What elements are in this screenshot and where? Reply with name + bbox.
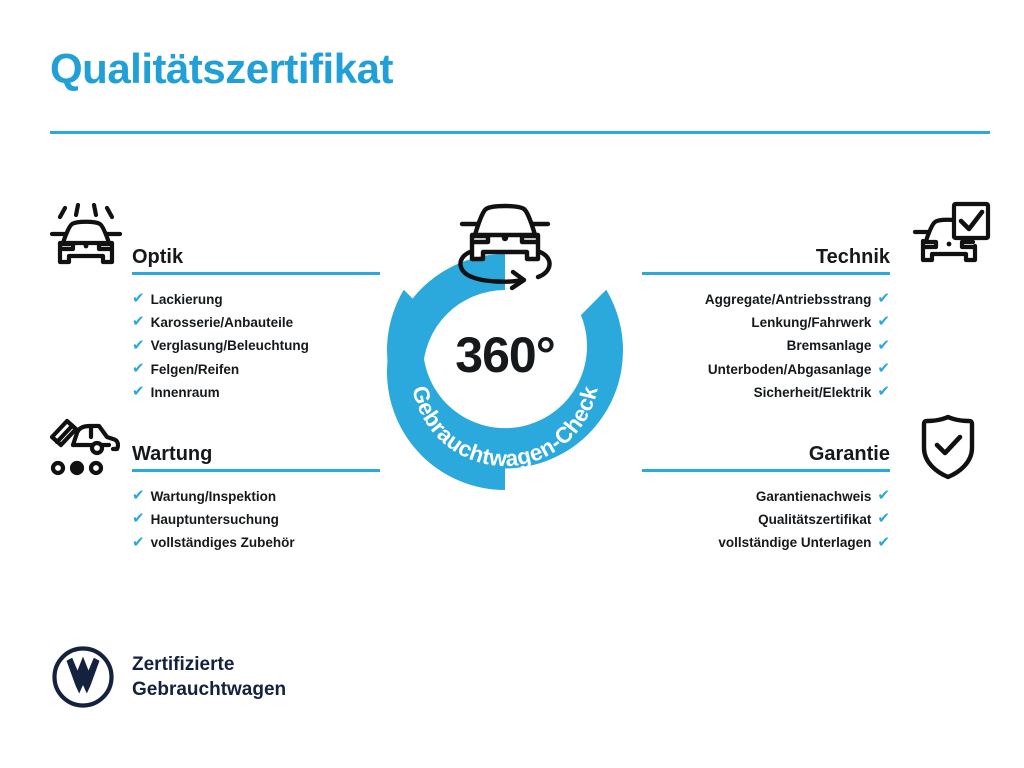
check-icon: ✔ [877, 384, 890, 399]
check-icon: ✔ [132, 314, 145, 329]
check-icon: ✔ [132, 384, 145, 399]
list-item-label: vollständige Unterlagen [718, 531, 871, 554]
checklist-optik: ✔ Lackierung ✔ Karosserie/Anbauteile ✔ V… [132, 288, 380, 404]
list-item: ✔ Karosserie/Anbauteile [132, 311, 380, 334]
list-item-label: Unterboden/Abgasanlage [708, 358, 872, 381]
page-title: Qualitätszertifikat [50, 48, 393, 90]
badge-360-gebrauchtwagen-check: Gebrauchtwagen-Check 360° [372, 190, 638, 490]
list-item-label: Wartung/Inspektion [151, 485, 277, 508]
section-divider-optik [132, 272, 380, 275]
list-item: ✔ Lackierung [132, 288, 380, 311]
list-item: Sicherheit/Elektrik ✔ [642, 381, 890, 404]
section-divider-technik [642, 272, 890, 275]
list-item: Lenkung/Fahrwerk ✔ [642, 311, 890, 334]
vw-logo [52, 646, 114, 708]
list-item-label: Innenraum [151, 381, 220, 404]
check-icon: ✔ [132, 291, 145, 306]
list-item-label: Verglasung/Beleuchtung [151, 334, 309, 357]
list-item-label: Lackierung [151, 288, 223, 311]
section-header-technik: Technik [642, 233, 890, 275]
list-item-label: Bremsanlage [787, 334, 872, 357]
section-wartung: Wartung ✔ Wartung/Inspektion ✔ Hauptunte… [132, 430, 380, 555]
car-front-shine-icon [47, 203, 125, 279]
section-header-optik: Optik [132, 233, 380, 275]
checklist-garantie: Garantienachweis ✔ Qualitätszertifikat ✔… [642, 485, 890, 555]
vw-label-line2: Gebrauchtwagen [132, 677, 286, 702]
section-divider-wartung [132, 469, 380, 472]
check-icon: ✔ [877, 488, 890, 503]
list-item: Bremsanlage ✔ [642, 334, 890, 357]
car-front-rotate-icon [450, 190, 560, 295]
list-item-label: Qualitätszertifikat [758, 508, 871, 531]
list-item: Garantienachweis ✔ [642, 485, 890, 508]
list-item: ✔ Hauptuntersuchung [132, 508, 380, 531]
check-icon: ✔ [877, 291, 890, 306]
vw-certified-logo-block: Zertifizierte Gebrauchtwagen [52, 646, 286, 708]
list-item: ✔ Felgen/Reifen [132, 358, 380, 381]
vw-label-line1: Zertifizierte [132, 652, 286, 677]
check-icon: ✔ [877, 511, 890, 526]
section-garantie: Garantie Garantienachweis ✔ Qualitätszer… [642, 430, 890, 555]
checklist-wartung: ✔ Wartung/Inspektion ✔ Hauptuntersuchung… [132, 485, 380, 555]
list-item-label: Hauptuntersuchung [151, 508, 279, 531]
section-title-optik: Optik [132, 246, 183, 269]
list-item-label: vollständiges Zubehör [151, 531, 295, 554]
check-icon: ✔ [877, 314, 890, 329]
check-icon: ✔ [877, 361, 890, 376]
list-item: ✔ Innenraum [132, 381, 380, 404]
section-header-wartung: Wartung [132, 430, 380, 472]
list-item-label: Felgen/Reifen [151, 358, 240, 381]
section-optik: Optik ✔ Lackierung ✔ Karosserie/Anbautei… [132, 233, 380, 404]
section-title-technik: Technik [816, 246, 890, 269]
list-item-label: Lenkung/Fahrwerk [751, 311, 871, 334]
list-item: ✔ Wartung/Inspektion [132, 485, 380, 508]
list-item-label: Garantienachweis [756, 485, 872, 508]
section-header-garantie: Garantie [642, 430, 890, 472]
section-technik: Technik Aggregate/Antriebsstrang ✔ Lenku… [642, 233, 890, 404]
check-icon: ✔ [132, 535, 145, 550]
list-item: Unterboden/Abgasanlage ✔ [642, 358, 890, 381]
list-item-label: Karosserie/Anbauteile [151, 311, 294, 334]
car-front-checkbox-icon [912, 200, 992, 276]
section-title-garantie: Garantie [809, 443, 890, 466]
checklist-technik: Aggregate/Antriebsstrang ✔ Lenkung/Fahrw… [642, 288, 890, 404]
list-item: Qualitätszertifikat ✔ [642, 508, 890, 531]
check-icon: ✔ [877, 338, 890, 353]
shield-check-icon [915, 412, 981, 482]
check-icon: ✔ [132, 338, 145, 353]
list-item-label: Aggregate/Antriebsstrang [705, 288, 872, 311]
section-divider-garantie [642, 469, 890, 472]
vw-certified-label: Zertifizierte Gebrauchtwagen [132, 652, 286, 703]
list-item: ✔ vollständiges Zubehör [132, 531, 380, 554]
list-item: Aggregate/Antriebsstrang ✔ [642, 288, 890, 311]
badge-degrees: 360° [372, 330, 638, 380]
list-item: ✔ Verglasung/Beleuchtung [132, 334, 380, 357]
check-icon: ✔ [877, 535, 890, 550]
car-service-lift-icon [47, 415, 127, 481]
section-title-wartung: Wartung [132, 443, 212, 466]
list-item: vollständige Unterlagen ✔ [642, 531, 890, 554]
check-icon: ✔ [132, 488, 145, 503]
title-divider [50, 131, 990, 134]
certificate-page: Qualitätszertifikat Optik ✔ Lackierung ✔… [0, 0, 1024, 768]
check-icon: ✔ [132, 511, 145, 526]
check-icon: ✔ [132, 361, 145, 376]
list-item-label: Sicherheit/Elektrik [754, 381, 872, 404]
